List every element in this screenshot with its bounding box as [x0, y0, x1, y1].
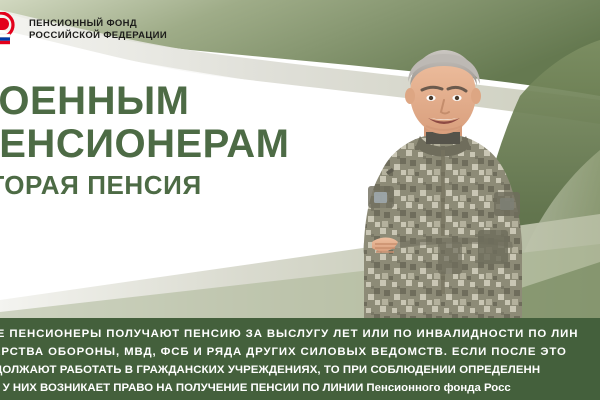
- pfr-logo-text: ПЕНСИОННЫЙ ФОНД РОССИЙСКОЙ ФЕДЕРАЦИИ: [29, 18, 167, 41]
- footer-banner: ЕННЫЕ ПЕНСИОНЕРЫ ПОЛУЧАЮТ ПЕНСИЮ ЗА ВЫСЛ…: [0, 318, 600, 400]
- banner-root: ПЕНСИОННЫЙ ФОНД РОССИЙСКОЙ ФЕДЕРАЦИИ ВОЕ…: [0, 0, 600, 400]
- pfr-emblem-svg: [0, 12, 22, 48]
- footer-line-4: ЛОВИЙ У НИХ ВОЗНИКАЕТ ПРАВО НА ПОЛУЧЕНИЕ…: [0, 380, 600, 397]
- headline-line-3: ВТОРАЯ ПЕНСИЯ: [0, 172, 290, 198]
- headline-block: ВОЕННЫМ ПЕНСИОНЕРАМ ВТОРАЯ ПЕНСИЯ: [0, 82, 290, 198]
- soldier-photo: [328, 46, 558, 336]
- pfr-logo-icon: [0, 12, 22, 48]
- footer-line-2: НИСТЕРСТВА ОБОРОНЫ, МВД, ФСБ И РЯДА ДРУГ…: [0, 344, 600, 361]
- pfr-logo: ПЕНСИОННЫЙ ФОНД РОССИЙСКОЙ ФЕДЕРАЦИИ: [0, 12, 167, 48]
- footer-text-block: ЕННЫЕ ПЕНСИОНЕРЫ ПОЛУЧАЮТ ПЕНСИЮ ЗА ВЫСЛ…: [0, 326, 600, 397]
- footer-line-1: ЕННЫЕ ПЕНСИОНЕРЫ ПОЛУЧАЮТ ПЕНСИЮ ЗА ВЫСЛ…: [0, 326, 600, 343]
- soldier-illustration-svg: [328, 46, 558, 336]
- logo-line-1: ПЕНСИОННЫЙ ФОНД: [29, 18, 167, 30]
- logo-line-2: РОССИЙСКОЙ ФЕДЕРАЦИИ: [29, 30, 167, 42]
- headline-line-1: ВОЕННЫМ: [0, 82, 290, 121]
- footer-line-3: И ПРОДОЛЖАЮТ РАБОТАТЬ В ГРАЖДАНСКИХ УЧРЕ…: [0, 362, 600, 379]
- headline-line-2: ПЕНСИОНЕРАМ: [0, 125, 290, 164]
